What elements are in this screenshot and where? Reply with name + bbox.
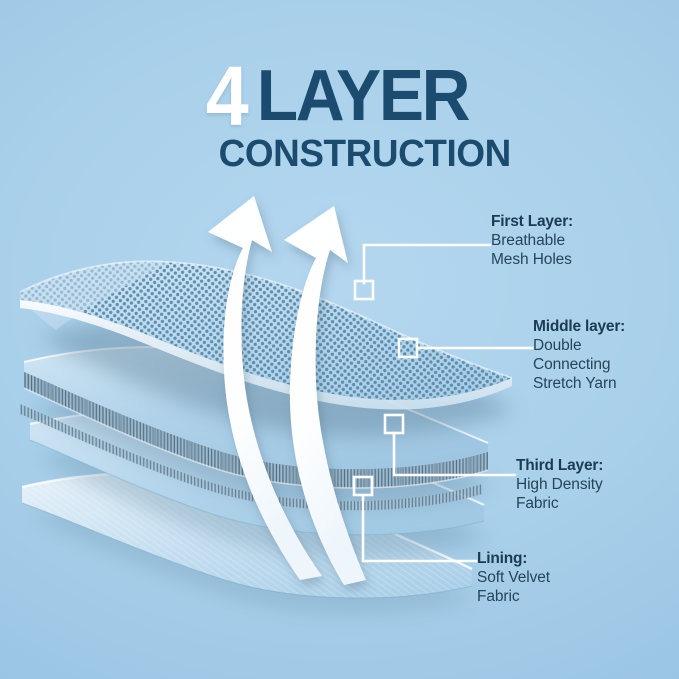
- callout-line: Breathable: [491, 232, 573, 251]
- callout-line: Stretch Yarn: [533, 375, 625, 394]
- callout-line: High Density: [516, 476, 603, 495]
- callout-line: Double: [533, 337, 625, 356]
- callout-title-third-layer: Third Layer:: [516, 457, 603, 476]
- callout-label-middle-layer: Middle layer: Double Connecting Stretch …: [533, 318, 625, 394]
- callout-title-middle-layer: Middle layer:: [533, 318, 625, 337]
- callout-line: Fabric: [516, 495, 603, 514]
- callout-title-lining: Lining:: [477, 550, 550, 569]
- infographic-canvas: 4 LAYER CONSTRUCTION First Layer: Breath…: [0, 0, 679, 679]
- callout-label-first-layer: First Layer: Breathable Mesh Holes: [491, 213, 573, 270]
- callout-label-third-layer: Third Layer: High Density Fabric: [516, 457, 603, 514]
- callout-title-first-layer: First Layer:: [491, 213, 573, 232]
- callout-line: Connecting: [533, 356, 625, 375]
- callout-line: Mesh Holes: [491, 251, 573, 270]
- callout-line: Soft Velvet: [477, 569, 550, 588]
- callout-label-lining: Lining: Soft Velvet Fabric: [477, 550, 550, 607]
- callout-line: Fabric: [477, 588, 550, 607]
